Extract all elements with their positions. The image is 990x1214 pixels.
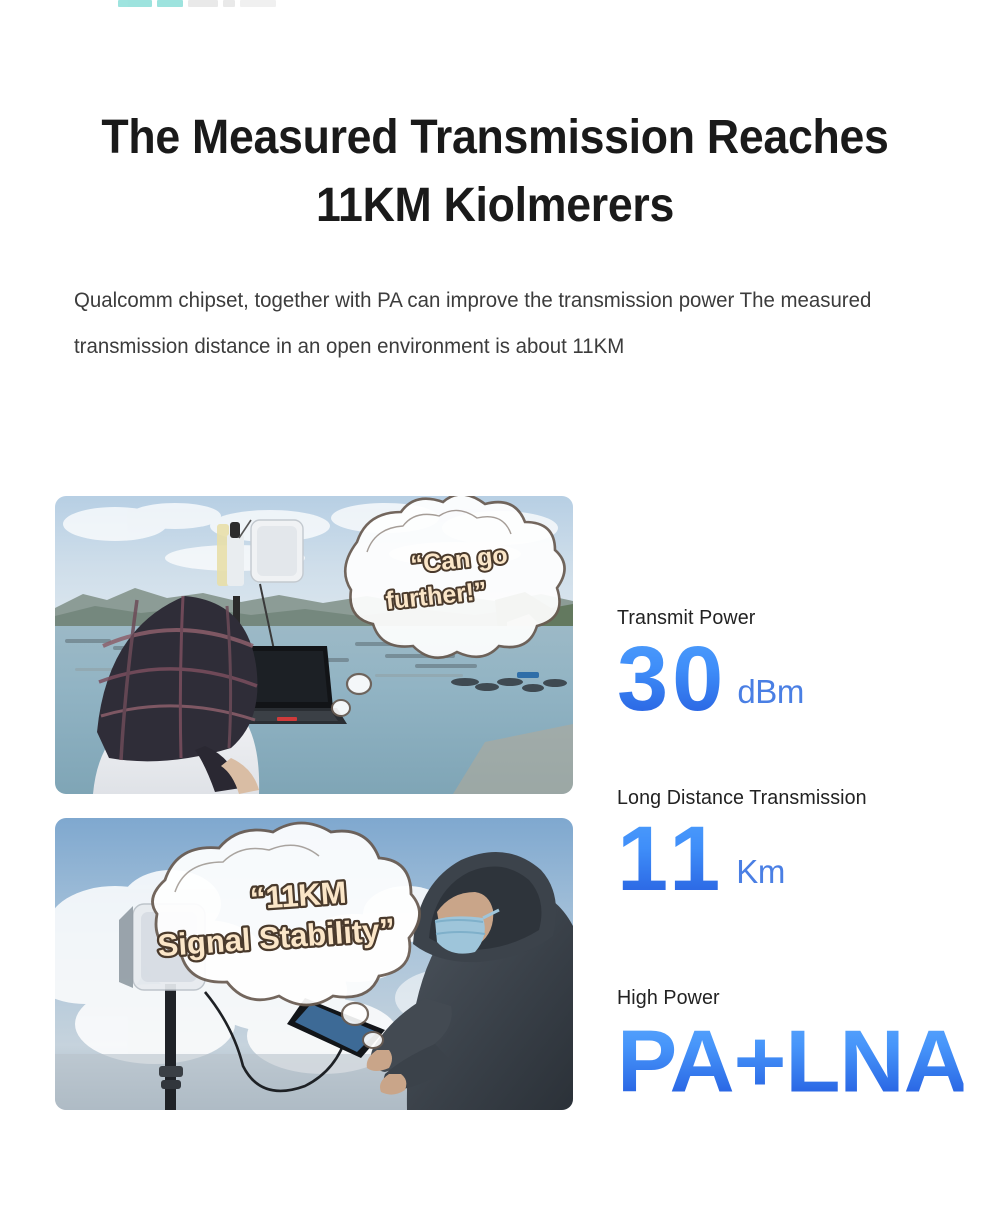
sliver-chip-4 bbox=[223, 0, 235, 7]
stat-long-distance-value-row: 11 Km bbox=[617, 814, 947, 904]
spec-highlights: Transmit Power 30 dBm Long Distance Tran… bbox=[617, 496, 947, 1114]
product-feature-page: The Measured Transmission Reaches 11KM K… bbox=[0, 0, 990, 1214]
stat-high-power-label: High Power bbox=[617, 986, 934, 1010]
sliver-chip-2 bbox=[157, 0, 183, 7]
sea-test-photo: “Can go further!” bbox=[55, 496, 573, 794]
stat-high-power-wordmark: PA+LNA bbox=[617, 1018, 964, 1106]
cropped-top-ui-sliver bbox=[118, 0, 278, 7]
page-title: The Measured Transmission Reaches 11KM K… bbox=[81, 104, 909, 240]
stat-high-power: High Power PA+LNA bbox=[617, 986, 947, 1104]
stat-long-distance: Long Distance Transmission 11 Km bbox=[617, 786, 947, 904]
sliver-chip-5 bbox=[240, 0, 276, 7]
stat-long-distance-label: Long Distance Transmission bbox=[617, 786, 934, 810]
stat-transmit-power-unit: dBm bbox=[737, 673, 804, 724]
page-description: Qualcomm chipset, together with PA can i… bbox=[74, 278, 882, 369]
svg-text:“11KM: “11KM bbox=[249, 875, 348, 917]
sliver-chip-3 bbox=[188, 0, 218, 7]
stat-transmit-power: Transmit Power 30 dBm bbox=[617, 606, 947, 724]
sliver-chip-1 bbox=[118, 0, 152, 7]
stat-transmit-power-value-row: 30 dBm bbox=[617, 634, 947, 724]
stat-long-distance-unit: Km bbox=[736, 853, 785, 904]
stat-transmit-power-value: 30 bbox=[617, 634, 727, 724]
stat-transmit-power-label: Transmit Power bbox=[617, 606, 934, 630]
stat-long-distance-value: 11 bbox=[617, 814, 726, 904]
sky-test-photo: “11KM Signal Stability” bbox=[55, 818, 573, 1110]
